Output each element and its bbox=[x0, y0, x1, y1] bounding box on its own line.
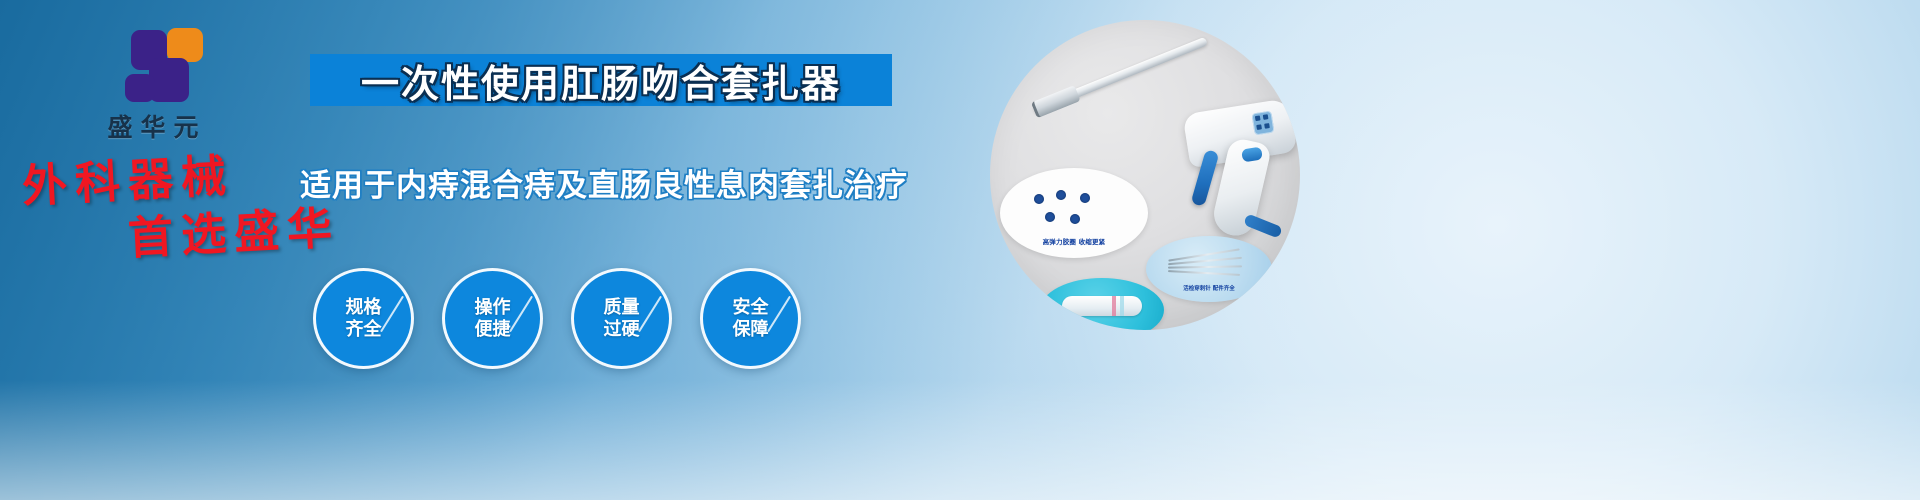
feature-badge-quality[interactable]: 质量 过硬 bbox=[571, 268, 672, 369]
calligraphy-slogan: 外科器械 首选盛华 bbox=[0, 150, 330, 270]
needle-caption: 活检穿刺针 配件齐全 bbox=[1146, 284, 1272, 292]
slash-mark-icon bbox=[509, 296, 533, 333]
device-tip bbox=[1031, 85, 1081, 118]
feature-badge-list: 规格 齐全 操作 便捷 质量 过硬 安全 保障 bbox=[313, 268, 873, 363]
title-bar: 一次性使用肛肠吻合套扎器 bbox=[310, 54, 892, 106]
slash-mark-icon bbox=[767, 296, 791, 333]
badge-label-line1: 规格 bbox=[346, 297, 382, 319]
page-title: 一次性使用肛肠吻合套扎器 bbox=[361, 53, 841, 108]
product-banner: 盛华元 一次性使用肛肠吻合套扎器 适用于内痔混合痔及直肠良性息肉套扎治疗 外科器… bbox=[0, 0, 1920, 500]
tube-icon bbox=[1062, 296, 1142, 316]
device-tail-connector bbox=[1243, 213, 1283, 238]
logo-block-2 bbox=[167, 28, 203, 62]
badge-label-line2: 齐全 bbox=[346, 319, 382, 341]
feature-badge-operation[interactable]: 操作 便捷 bbox=[442, 268, 543, 369]
product-photo: 高弹力胶圈 收缩更紧 活检穿刺针 配件齐全 bbox=[990, 20, 1300, 330]
slash-mark-icon bbox=[638, 296, 662, 333]
device-keypad bbox=[1251, 111, 1274, 136]
slash-mark-icon bbox=[380, 296, 404, 333]
tube-ring bbox=[1120, 296, 1124, 316]
badge-label-line1: 安全 bbox=[733, 297, 769, 319]
brand-logo[interactable]: 盛华元 bbox=[62, 24, 252, 134]
badge-label-line2: 保障 bbox=[733, 319, 769, 341]
needle-card: 活检穿刺针 配件齐全 bbox=[1146, 236, 1272, 302]
feature-badge-safety[interactable]: 安全 保障 bbox=[700, 268, 801, 369]
feature-badge-specs[interactable]: 规格 齐全 bbox=[313, 268, 414, 369]
subtitle: 适用于内痔混合痔及直肠良性息肉套扎治疗 bbox=[300, 160, 900, 205]
rubber-band-card: 高弹力胶圈 收缩更紧 bbox=[1000, 168, 1148, 258]
logo-block-4 bbox=[125, 74, 155, 102]
needle-icon bbox=[1168, 265, 1242, 268]
badge-label-line2: 过硬 bbox=[604, 319, 640, 341]
rubber-band-dots-icon bbox=[1030, 190, 1116, 226]
slogan-line-2: 首选盛华 bbox=[126, 191, 341, 267]
rubber-band-caption: 高弹力胶圈 收缩更紧 bbox=[1000, 236, 1148, 246]
tube-ring bbox=[1112, 296, 1116, 316]
geometric-blocks-logo-icon bbox=[111, 24, 203, 104]
logo-block-3 bbox=[149, 58, 189, 102]
badge-label-line1: 操作 bbox=[475, 297, 511, 319]
badge-label-line2: 便捷 bbox=[475, 319, 511, 341]
needle-icon bbox=[1168, 270, 1240, 276]
badge-label-line1: 质量 bbox=[604, 297, 640, 319]
